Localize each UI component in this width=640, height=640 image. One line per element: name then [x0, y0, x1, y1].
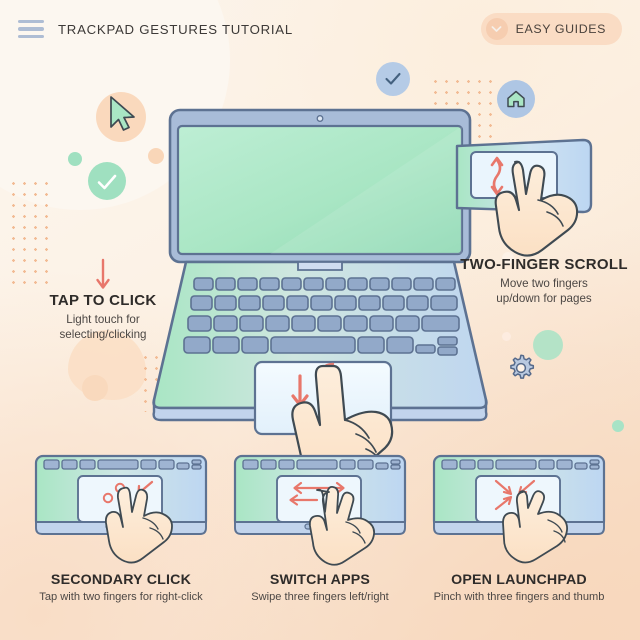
- deco-peach-circle-cursor-bg: [96, 92, 146, 142]
- panel-title: SWITCH APPS: [225, 572, 415, 588]
- check-circle-icon: [376, 62, 410, 96]
- infographic-canvas: TRACKPAD GESTURES TUTORIAL EASY GUIDES: [0, 0, 640, 640]
- easy-guides-label: EASY GUIDES: [516, 22, 606, 36]
- easy-guides-badge[interactable]: EASY GUIDES: [481, 13, 622, 45]
- page-title: TRACKPAD GESTURES TUTORIAL: [58, 22, 293, 37]
- panel-title: SECONDARY CLICK: [26, 572, 216, 588]
- deco-mint-small-dot: [68, 152, 82, 166]
- callout-tap-to-click: TAP TO CLICK Light touch for selecting/c…: [18, 258, 188, 343]
- deco-mint-dot-bottom: [612, 420, 624, 432]
- laptop-lid: [170, 110, 470, 262]
- laptop-illustration[interactable]: [150, 104, 490, 434]
- down-arrow-icon: [18, 258, 188, 292]
- home-icon: [497, 80, 535, 118]
- check-badge-icon: [96, 172, 118, 192]
- callout-two-finger-scroll: TWO-FINGER SCROLL Move two fingers up/do…: [448, 256, 640, 307]
- callout-subtitle: Light touch for selecting/clicking: [18, 312, 188, 343]
- panel-caption: OPEN LAUNCHPAD Pinch with three fingers …: [424, 572, 614, 603]
- deco-mint-circle-right: [533, 330, 563, 360]
- panel-open-launchpad[interactable]: OPEN LAUNCHPAD Pinch with three fingers …: [424, 448, 614, 603]
- gear-icon: [505, 352, 537, 384]
- panel-caption: SWITCH APPS Swipe three fingers left/rig…: [225, 572, 415, 603]
- panel-subtitle: Pinch with three fingers and thumb: [424, 591, 614, 603]
- panel-switch-apps[interactable]: SWITCH APPS Swipe three fingers left/rig…: [225, 448, 415, 603]
- two-finger-scroll-illustration[interactable]: [455, 132, 640, 257]
- deco-white-dot-right: [502, 332, 511, 341]
- callout-title: TAP TO CLICK: [18, 292, 188, 309]
- callout-title: TWO-FINGER SCROLL: [448, 256, 640, 273]
- hamburger-menu-icon[interactable]: [18, 20, 44, 38]
- deco-mint-check-circle: [88, 162, 126, 200]
- chevron-down-icon: [486, 18, 508, 40]
- panel-caption: SECONDARY CLICK Tap with two fingers for…: [26, 572, 216, 603]
- secondary-click-illustration: [26, 448, 216, 558]
- header-bar: TRACKPAD GESTURES TUTORIAL EASY GUIDES: [0, 0, 640, 58]
- panel-subtitle: Swipe three fingers left/right: [225, 591, 415, 603]
- deco-peach-blob-left-small: [82, 375, 108, 401]
- switch-apps-illustration: [225, 448, 415, 558]
- open-launchpad-illustration: [424, 448, 614, 558]
- gesture-panels: SECONDARY CLICK Tap with two fingers for…: [0, 448, 640, 640]
- panel-secondary-click[interactable]: SECONDARY CLICK Tap with two fingers for…: [26, 448, 216, 603]
- panel-title: OPEN LAUNCHPAD: [424, 572, 614, 588]
- panel-subtitle: Tap with two fingers for right-click: [26, 591, 216, 603]
- callout-subtitle: Move two fingers up/down for pages: [448, 276, 640, 307]
- cursor-arrow-icon: [106, 94, 140, 134]
